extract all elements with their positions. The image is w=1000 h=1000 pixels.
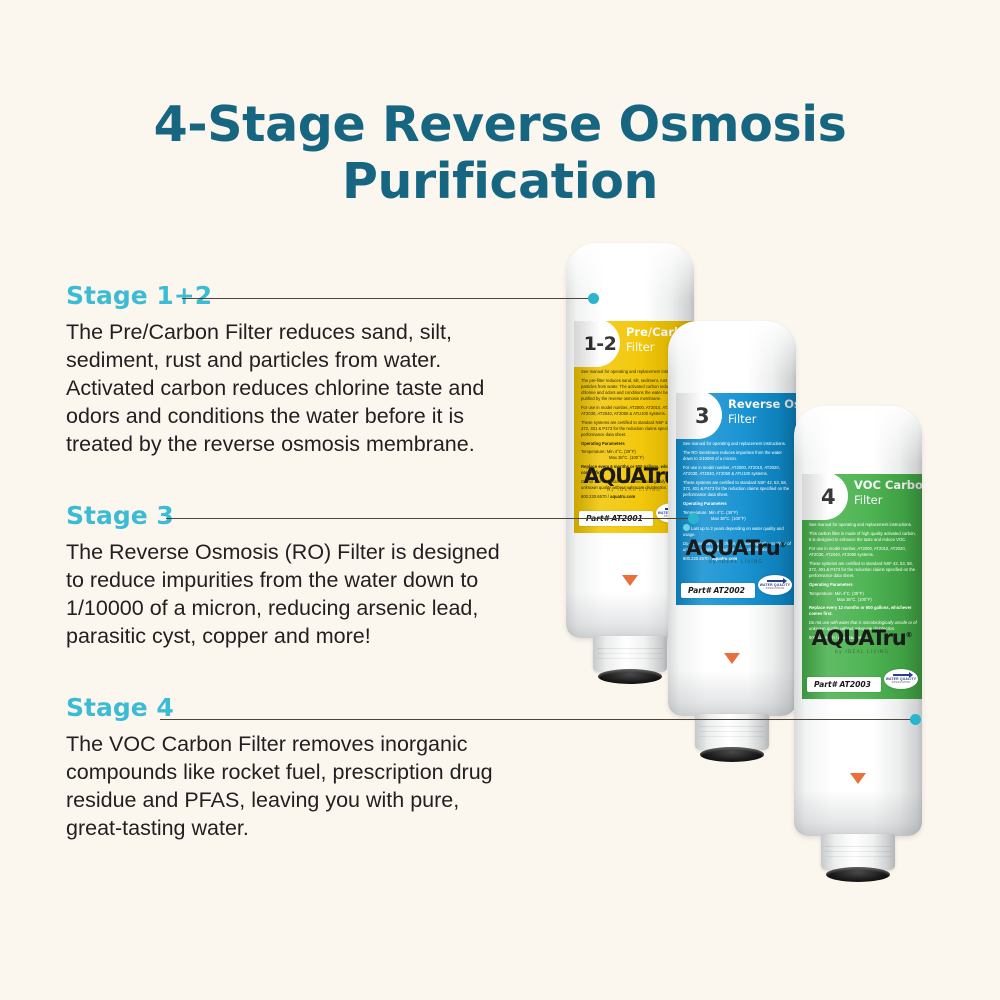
brand-trademark-3: ® <box>906 631 913 639</box>
orientation-arrow-icon <box>724 653 740 664</box>
filter-name-main-2: Reverse Osmosis <box>728 397 796 411</box>
contact-site-1: aquatru.com <box>610 494 635 499</box>
stage-body-1: The Pre/Carbon Filter reduces sand, silt… <box>66 319 506 459</box>
filter-number-1: 1-2 <box>576 321 624 367</box>
orientation-arrow-icon <box>850 773 866 784</box>
leader-line-stage-4 <box>160 719 915 720</box>
fineprint-temp-min-2: Min 4°C. (39°F) <box>709 510 738 515</box>
stage-body-4: The VOC Carbon Filter removes inorganic … <box>66 731 506 843</box>
brand-tagline-3: by IDEAL LIVING <box>802 650 922 655</box>
fineprint-models-2: For use in model number, AT2000, AT2010,… <box>683 465 791 477</box>
fineprint-temp-label-3: Temperature: <box>809 591 834 596</box>
stage-block-4: Stage 4 The VOC Carbon Filter removes in… <box>66 695 506 843</box>
fineprint-temp-2: Temperature: Min 4°C. (39°F) Max 38°C. (… <box>683 510 791 522</box>
brand-trademark-2: ® <box>780 541 787 549</box>
filter-body-3: 4 VOC Carbon Filter See manual for opera… <box>794 406 922 836</box>
wqa-seal-icon-2: WATER QUALITY ASSOCIATION <box>758 575 792 595</box>
contact-phone-1: 800.220.6570 / <box>581 494 610 499</box>
fineprint-models-3: For use in model number, AT2000, AT2010,… <box>809 546 917 558</box>
stage-heading-1: Stage 1+2 <box>66 283 506 308</box>
filter-number-3: 4 <box>804 474 852 520</box>
brand-tagline-2: by IDEAL LIVING <box>676 560 796 565</box>
stage-body-3: The Reverse Osmosis (RO) Filter is desig… <box>66 539 506 651</box>
wqa-seal-icon-3: WATER QUALITY ASSOCIATION <box>884 669 918 689</box>
page-title-line-2: Purification <box>342 153 658 210</box>
seal-line-3b: ASSOCIATION <box>892 681 911 684</box>
fineprint-replace-3: Replace every 12 months or 600 gallons, … <box>809 605 917 617</box>
leader-dot-stage-1 <box>588 293 599 304</box>
brand-text-2: AQUATru <box>685 536 779 560</box>
filter-label-3: 4 VOC Carbon Filter See manual for opera… <box>802 474 922 699</box>
brand-text-1: AQUATru <box>583 464 677 488</box>
fineprint-manual-3: See manual for operating and replacement… <box>809 522 917 528</box>
infographic-canvas: 4-Stage Reverse Osmosis Purification Sta… <box>0 0 1000 1000</box>
stage-heading-4: Stage 4 <box>66 695 506 720</box>
fineprint-temp-max-2: Max 38°C. (100°F) <box>683 516 791 522</box>
seal-arrow-icon-2 <box>767 580 784 582</box>
brand-name-2: AQUATru® <box>676 538 796 559</box>
fineprint-manual-2: See manual for operating and replacement… <box>683 441 791 447</box>
part-number-2: Part# AT2002 <box>681 583 755 598</box>
leader-dot-stage-4 <box>910 714 921 725</box>
stage-block-1: Stage 1+2 The Pre/Carbon Filter reduces … <box>66 283 506 459</box>
orientation-arrow-icon <box>622 575 638 586</box>
page-title: 4-Stage Reverse Osmosis Purification <box>0 96 1000 211</box>
filter-neck-3 <box>821 834 895 870</box>
fineprint-temp-3: Temperature: Min 4°C. (39°F) Max 38°C. (… <box>809 591 917 603</box>
seal-line-2b: ASSOCIATION <box>766 587 785 590</box>
filter-shoulder-3 <box>794 790 922 836</box>
seal-arrow-icon-3 <box>893 674 910 676</box>
ro-bullet-icon <box>683 524 690 531</box>
fineprint-certified-3: These systems are certified to standard … <box>809 561 917 579</box>
filter-fineprint-3: See manual for operating and replacement… <box>802 520 922 641</box>
fineprint-description-2: The RO membrane reduces impurities from … <box>683 450 791 462</box>
filter-number-2: 3 <box>678 393 726 439</box>
brand-name-3: AQUATru® <box>802 628 922 649</box>
page-title-line-1: 4-Stage Reverse Osmosis <box>154 96 847 153</box>
brand-lockup-2: AQUATru® by IDEAL LIVING <box>676 538 796 565</box>
leader-line-stage-1 <box>182 298 594 299</box>
filter-label-header-3: 4 VOC Carbon Filter <box>802 474 922 520</box>
filter-name-sub-2: Filter <box>728 412 794 427</box>
filter-label-2: 3 Reverse Osmosis Filter See manual for … <box>676 393 796 605</box>
stage-heading-3: Stage 3 <box>66 503 506 528</box>
filter-label-header-2: 3 Reverse Osmosis Filter <box>676 393 796 439</box>
filter-name-2: Reverse Osmosis Filter <box>728 397 794 426</box>
filter-neck-1 <box>593 636 667 672</box>
leader-line-stage-3 <box>166 518 693 519</box>
stage-block-3: Stage 3 The Reverse Osmosis (RO) Filter … <box>66 503 506 651</box>
fineprint-temp-label-1: Temperature: <box>581 449 606 454</box>
brand-text-3: AQUATru <box>811 626 905 650</box>
fineprint-params-title-2: Operating Parameters <box>683 501 791 507</box>
fineprint-temp-min-3: Min 4°C. (39°F) <box>835 591 864 596</box>
fineprint-params-title-3: Operating Parameters <box>809 582 917 588</box>
fineprint-temp-max-3: Max 38°C. (100°F) <box>809 597 917 603</box>
filter-oring-3 <box>826 867 890 882</box>
fineprint-certified-2: These systems are certified to standard … <box>683 480 791 498</box>
filter-oring-2 <box>700 747 764 762</box>
filter-shoulder-2 <box>668 670 796 716</box>
filter-name-main-3: VOC Carbon <box>854 478 922 492</box>
filter-name-3: VOC Carbon Filter <box>854 478 920 507</box>
filter-cartridge-reverse-osmosis: 3 Reverse Osmosis Filter See manual for … <box>668 321 796 762</box>
leader-dot-stage-3 <box>688 513 699 524</box>
part-number-3: Part# AT2003 <box>807 677 881 692</box>
fineprint-temp-min-1: Min 4°C. (39°F) <box>607 449 636 454</box>
brand-lockup-3: AQUATru® by IDEAL LIVING <box>802 628 922 655</box>
fineprint-description-3: This carbon filter is made of high quali… <box>809 531 917 543</box>
filter-name-sub-3: Filter <box>854 493 920 508</box>
filter-oring-1 <box>598 669 662 684</box>
filter-cartridge-voc-carbon: 4 VOC Carbon Filter See manual for opera… <box>794 406 922 882</box>
